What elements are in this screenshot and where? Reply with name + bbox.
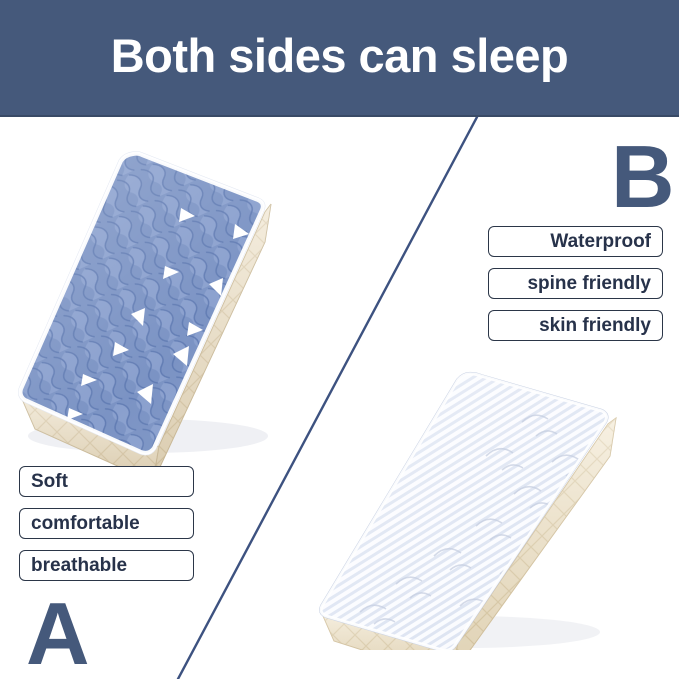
mattress-top-surface-a bbox=[13, 146, 385, 466]
embossed-motifs-b bbox=[360, 415, 615, 624]
feature-label-skin-friendly: skin friendly bbox=[488, 310, 663, 341]
white-pinstripe-mattress bbox=[300, 360, 672, 650]
feature-label-breathable: breathable bbox=[19, 550, 194, 581]
mattress-side-band-a bbox=[19, 200, 271, 466]
header-banner: Both sides can sleep bbox=[0, 0, 679, 117]
mattress-side-band-b bbox=[320, 418, 616, 650]
mattress-top-surface-b bbox=[300, 360, 672, 650]
feature-label-soft: Soft bbox=[19, 466, 194, 497]
feature-label-spine-friendly: spine friendly bbox=[488, 268, 663, 299]
blue-quilted-mattress bbox=[13, 146, 385, 466]
product-infographic: Both sides can sleep bbox=[0, 0, 679, 679]
feature-label-comfortable: comfortable bbox=[19, 508, 194, 539]
triangle-accents-a bbox=[67, 208, 339, 420]
diagonal-divider bbox=[0, 117, 679, 679]
side-letter-b: B bbox=[611, 133, 675, 221]
side-letter-a: A bbox=[26, 590, 90, 678]
feature-label-waterproof: Waterproof bbox=[488, 226, 663, 257]
page-title: Both sides can sleep bbox=[111, 32, 569, 79]
